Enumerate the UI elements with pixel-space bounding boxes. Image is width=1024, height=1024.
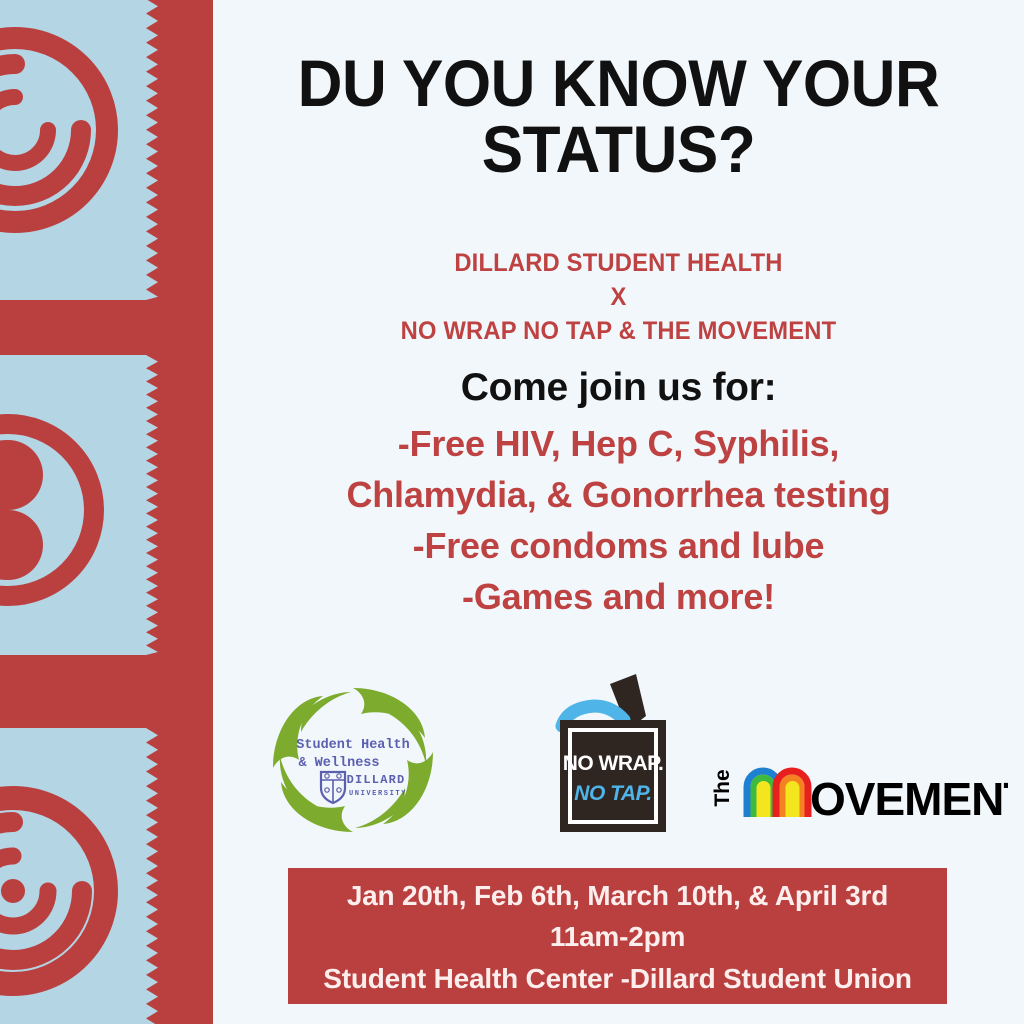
offer-line: -Free condoms and lube bbox=[213, 520, 1024, 571]
banner-time: 11am-2pm bbox=[550, 916, 685, 957]
dillard-logo-university: DILLARD bbox=[347, 773, 406, 787]
come-join-heading: Come join us for: bbox=[213, 366, 1024, 410]
movement-the-label: The bbox=[713, 769, 734, 806]
border-panel-middle bbox=[0, 355, 170, 655]
spiral-motif-icon bbox=[0, 786, 118, 996]
dillard-logo-line-1: Student Health bbox=[296, 738, 409, 753]
collab-line-1: DILLARD STUDENT HEALTH bbox=[233, 246, 1003, 280]
dillard-logo-university-sub: UNIVERSITY bbox=[349, 790, 407, 798]
partner-logos: Student Health & Wellness DILLARD UNIVER… bbox=[213, 672, 1024, 847]
main-content: DU YOU KNOW YOUR STATUS? DILLARD STUDENT… bbox=[213, 0, 1024, 1024]
headline-line-1: DU YOU KNOW YOUR bbox=[237, 50, 999, 116]
dillard-crest-icon bbox=[321, 772, 345, 803]
offer-list: -Free HIV, Hep C, Syphilis, Chlamydia, &… bbox=[213, 418, 1024, 622]
headline-line-2: STATUS? bbox=[237, 116, 999, 182]
offer-line: -Games and more! bbox=[213, 571, 1024, 622]
collaboration-credits: DILLARD STUDENT HEALTH X NO WRAP NO TAP … bbox=[233, 246, 1003, 348]
dillard-logo-line-2: & Wellness bbox=[298, 756, 379, 771]
offer-line: -Free HIV, Hep C, Syphilis, bbox=[213, 418, 1024, 469]
wrapper-body bbox=[560, 720, 666, 832]
no-wrap-no-tap-logo: NO WRAP. NO TAP. bbox=[550, 672, 680, 840]
collab-line-3: NO WRAP NO TAP & THE MOVEMENT bbox=[233, 314, 1003, 348]
page-title: DU YOU KNOW YOUR STATUS? bbox=[237, 50, 999, 182]
spiral-motif-icon bbox=[0, 25, 120, 235]
nowrap-line-1: NO WRAP. bbox=[563, 752, 664, 775]
movement-rest-label: OVEMENT bbox=[810, 773, 1008, 819]
banner-dates: Jan 20th, Feb 6th, March 10th, & April 3… bbox=[347, 875, 888, 916]
left-decorative-border bbox=[0, 0, 213, 1024]
offer-line: Chlamydia, & Gonorrhea testing bbox=[213, 469, 1024, 520]
event-details-banner: Jan 20th, Feb 6th, March 10th, & April 3… bbox=[288, 868, 947, 1004]
collab-line-2: X bbox=[233, 280, 1003, 314]
dillard-student-health-wellness-logo: Student Health & Wellness DILLARD UNIVER… bbox=[265, 680, 441, 840]
flyer-poster: DU YOU KNOW YOUR STATUS? DILLARD STUDENT… bbox=[0, 0, 1024, 1024]
border-panel-bottom bbox=[0, 728, 170, 1024]
border-panel-top bbox=[0, 0, 170, 300]
rainbow-m-icon bbox=[747, 771, 808, 817]
nowrap-line-2: NO TAP. bbox=[574, 782, 651, 805]
banner-location: Student Health Center -Dillard Student U… bbox=[323, 958, 912, 999]
the-movement-logo: The OVEMENT bbox=[713, 757, 1008, 819]
ring-motif-icon bbox=[0, 410, 108, 610]
